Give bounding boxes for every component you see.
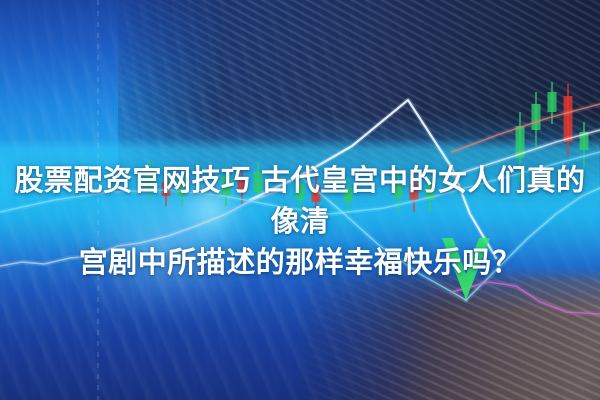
page-title: 股票配资官网技巧 古代皇宫中的女人们真的像清 宫剧中所描述的那样幸福快乐吗？ [0, 160, 600, 283]
banner-image: 股票配资官网技巧 古代皇宫中的女人们真的像清 宫剧中所描述的那样幸福快乐吗？ [0, 0, 600, 400]
